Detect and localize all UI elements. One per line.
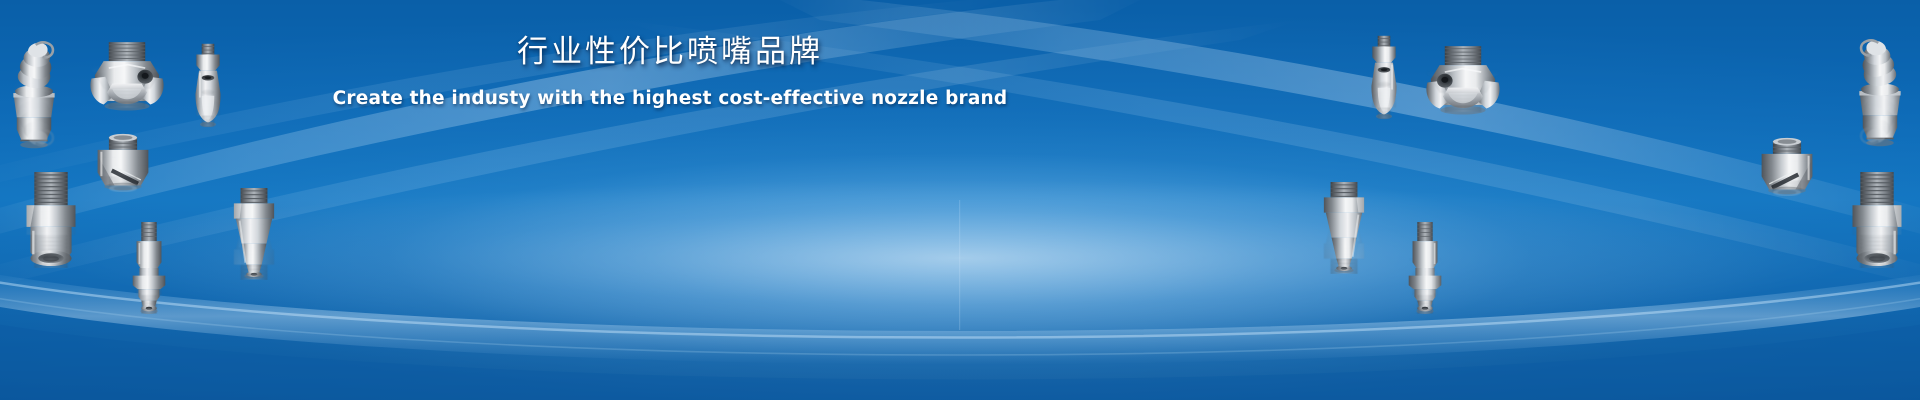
flat-fan-nozzle bbox=[1364, 34, 1404, 120]
full-cone-nozzle bbox=[88, 32, 166, 118]
spiral-nozzle bbox=[0, 38, 68, 150]
taper-nozzle bbox=[1318, 182, 1370, 274]
hero-banner: 行业性价比喷嘴品牌 Create the industy with the hi… bbox=[0, 0, 1920, 400]
hex-pipe-nozzle bbox=[20, 172, 82, 268]
hex-pipe-nozzle bbox=[1846, 172, 1908, 268]
needle-nozzle bbox=[1404, 222, 1446, 314]
flat-fan-nozzle bbox=[188, 42, 228, 128]
needle-nozzle bbox=[128, 222, 170, 314]
flat-spray-nozzle bbox=[92, 134, 154, 192]
spiral-nozzle bbox=[1846, 36, 1914, 148]
flat-spray-nozzle bbox=[1756, 138, 1818, 196]
full-cone-nozzle bbox=[1424, 36, 1502, 122]
taper-nozzle bbox=[228, 188, 280, 280]
background-swoosh-graphic bbox=[0, 0, 1920, 400]
